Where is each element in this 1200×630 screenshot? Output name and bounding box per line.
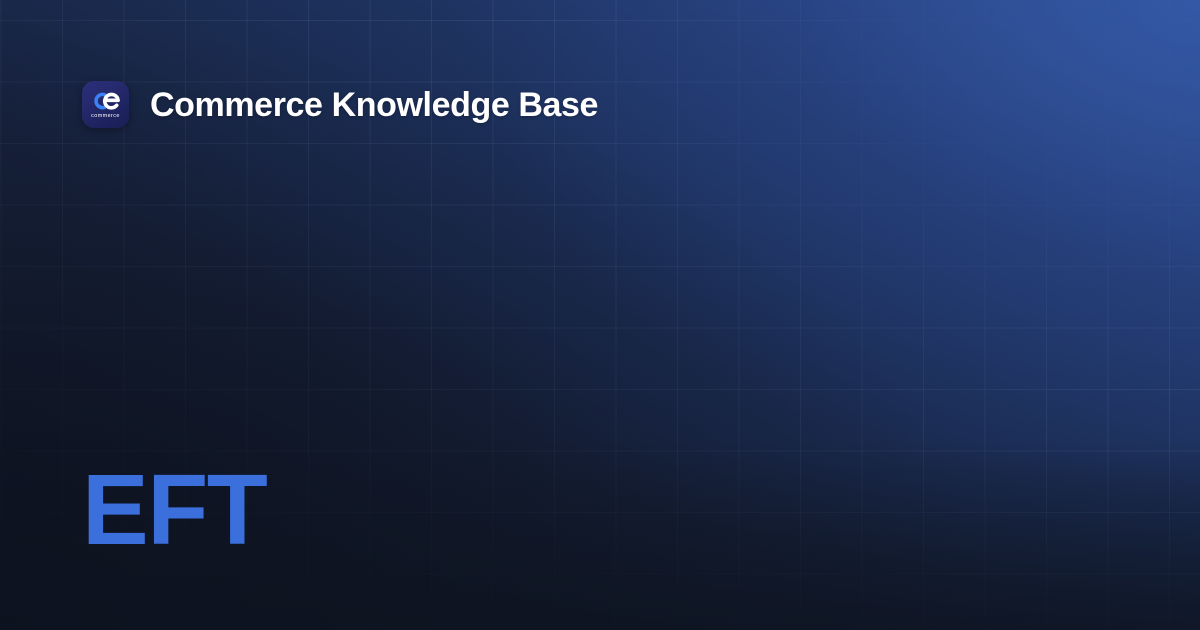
page-title: Commerce Knowledge Base: [150, 88, 598, 122]
hero-term: EFT: [82, 460, 266, 560]
site-header: commerce Commerce Knowledge Base: [82, 81, 598, 128]
ce-commerce-logo-icon: commerce: [82, 81, 129, 128]
logo-wordmark: commerce: [91, 114, 120, 119]
ce-monogram-icon: [89, 91, 123, 111]
og-image-canvas: commerce Commerce Knowledge Base EFT: [0, 0, 1200, 630]
hero-block: EFT: [82, 460, 266, 560]
